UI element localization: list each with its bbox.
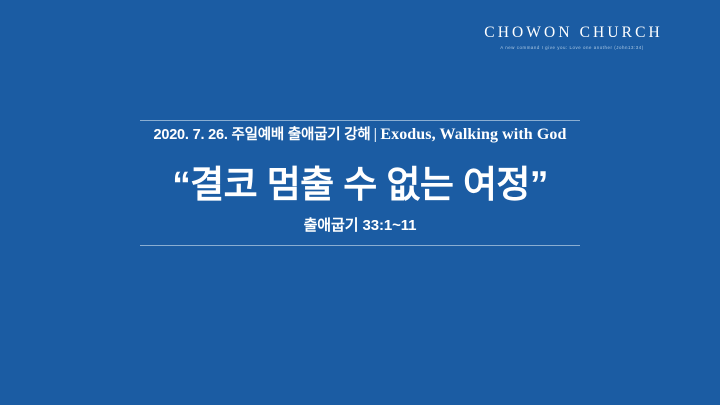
sermon-date-service-series: 2020. 7. 26. 주일예배 출애굽기 강해 bbox=[153, 127, 370, 143]
divider-top bbox=[140, 120, 580, 121]
church-wordmark: CHOWON CHURCH bbox=[462, 24, 682, 41]
church-tagline: A new command I give you: Love one anoth… bbox=[462, 45, 682, 50]
sermon-title-slide: CHOWON CHURCH A new command I give you: … bbox=[0, 0, 720, 405]
series-separator: | bbox=[371, 127, 381, 143]
sermon-title: “결코 멈출 수 없는 여정” bbox=[140, 154, 580, 213]
divider-bottom bbox=[140, 245, 580, 246]
church-logo: CHOWON CHURCH A new command I give you: … bbox=[462, 24, 682, 50]
sermon-info-block: 2020. 7. 26. 주일예배 출애굽기 강해|Exodus, Walkin… bbox=[140, 120, 580, 246]
scripture-reference: 출애굽기 33:1~11 bbox=[140, 212, 580, 245]
sermon-series-english: Exodus, Walking with God bbox=[380, 126, 566, 143]
sermon-series-line: 2020. 7. 26. 주일예배 출애굽기 강해|Exodus, Walkin… bbox=[140, 121, 580, 154]
